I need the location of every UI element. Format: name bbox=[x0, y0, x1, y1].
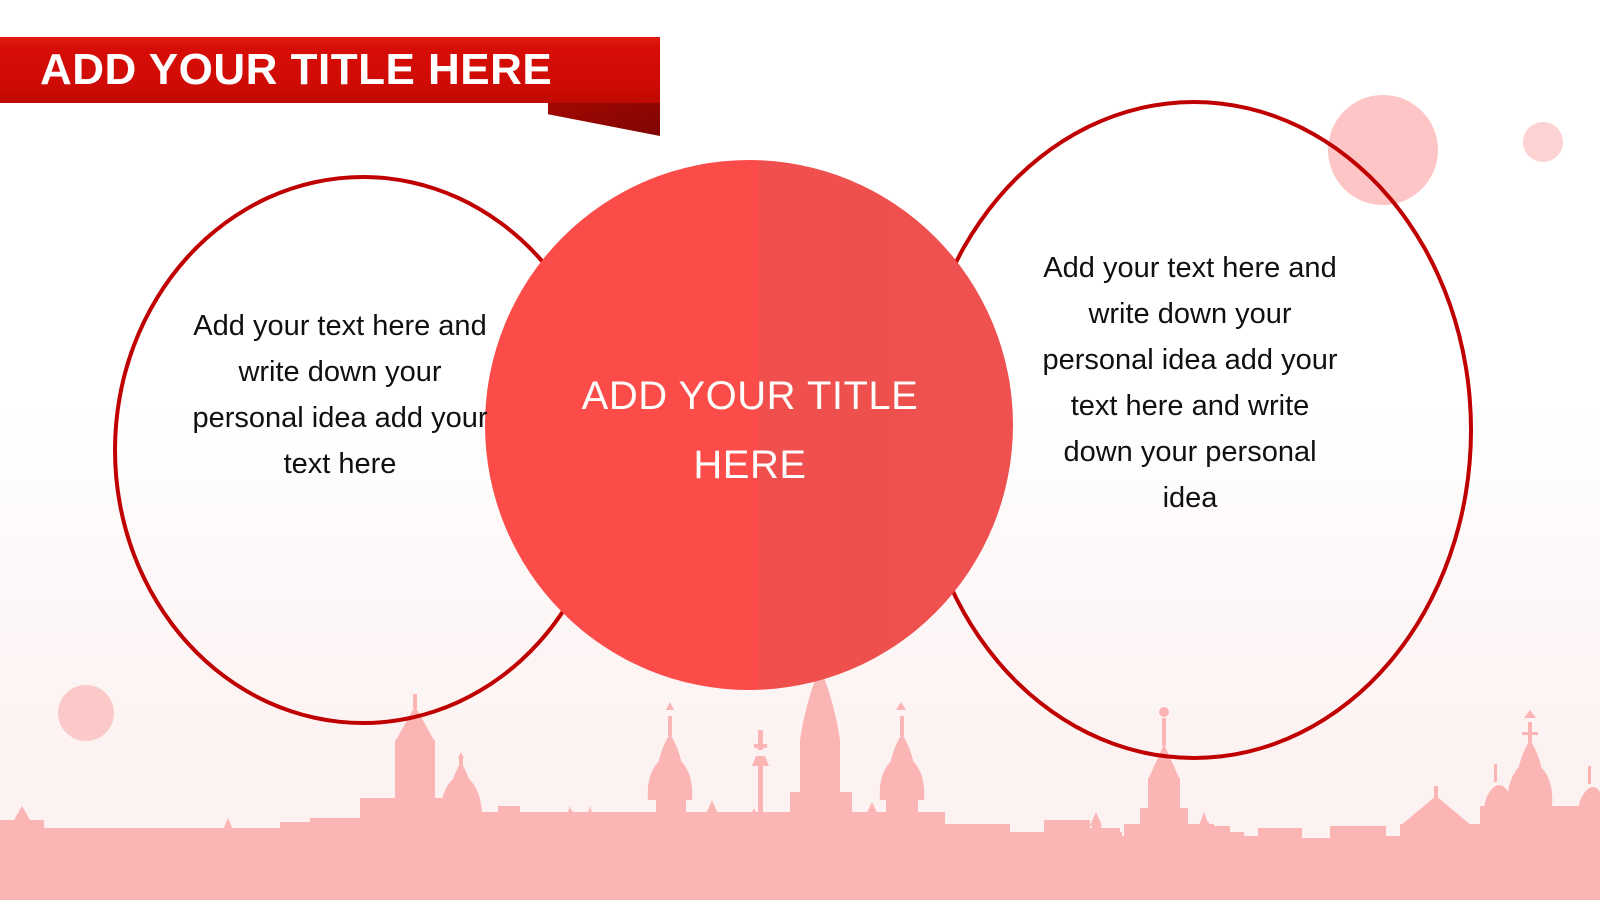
title-ribbon[interactable]: ADD YOUR TITLE HERE bbox=[0, 37, 660, 136]
presentation-slide: Add your text here and write down your p… bbox=[0, 0, 1600, 900]
center-circle-title[interactable]: ADD YOUR TITLE HERE bbox=[560, 362, 940, 500]
slide-title: ADD YOUR TITLE HERE bbox=[40, 37, 552, 103]
ribbon-fold-shadow bbox=[548, 103, 660, 136]
left-circle-body-text[interactable]: Add your text here and write down your p… bbox=[190, 303, 490, 487]
right-circle-body-text[interactable]: Add your text here and write down your p… bbox=[1040, 245, 1340, 521]
